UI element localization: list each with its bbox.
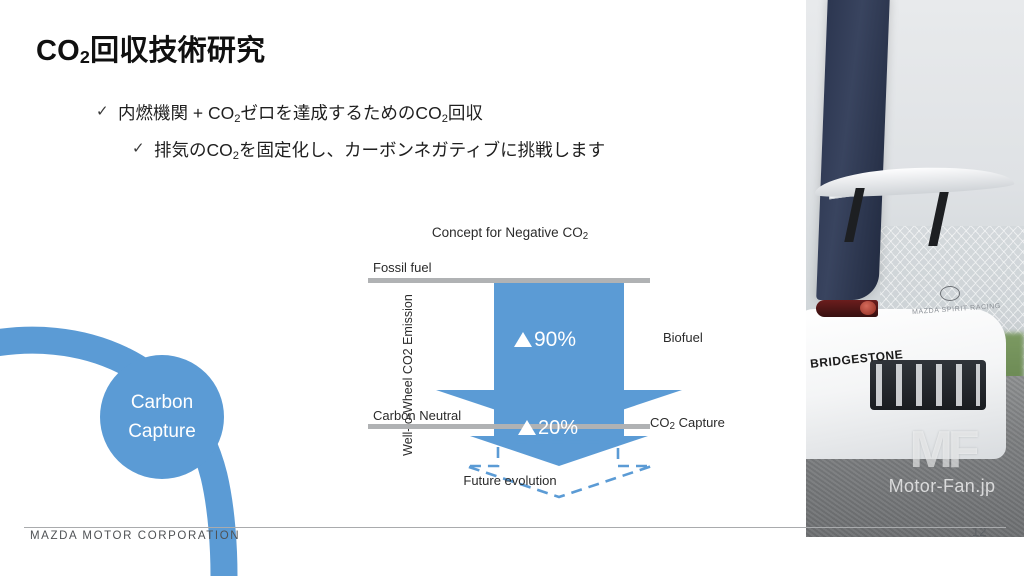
slide-canvas: CO2回収技術研究 ✓ 内燃機関 + CO2ゼロを達成するためのCO2回収 ✓ …: [0, 0, 1024, 576]
label-co2-capture: CO2 Capture: [650, 415, 725, 430]
label-co2-capture-sub: 2: [670, 421, 676, 432]
checkmark-icon: ✓: [96, 103, 118, 121]
bullet2-pre: 排気のCO: [154, 140, 233, 160]
mazda-spirit-racing-banner: MAZDA SPIRIT RACING: [816, 0, 890, 300]
label-biofuel: Biofuel: [663, 330, 703, 345]
reduction-label-90: 90%: [514, 328, 576, 352]
footer-divider: [24, 527, 1006, 528]
bullet2-mid: を固定化し、カーボンネガティブに挑戦します: [239, 140, 605, 160]
label-carbon-neutral: Carbon Neutral: [373, 408, 461, 423]
page-title: CO2回収技術研究: [36, 27, 265, 69]
baseline-fossil-fuel: [368, 278, 650, 283]
concept-diagram: Concept for Negative CO2 Well-to-Wheel C…: [330, 218, 690, 503]
bullet1-post: 回収: [448, 103, 483, 123]
photo-rear-diffuser: [870, 360, 986, 410]
page-title-subscript: 2: [80, 47, 90, 67]
bullet1-sub2: 2: [442, 113, 448, 125]
carbon-capture-badge[interactable]: Carbon Capture: [100, 355, 224, 479]
footer-company-name: MAZDA MOTOR CORPORATION: [30, 530, 240, 542]
triangle-down-icon: [514, 332, 532, 347]
photo-taillight: [816, 300, 878, 317]
baseline-carbon-neutral: [368, 424, 650, 429]
bullet-item-1: ✓ 内燃機関 + CO2ゼロを達成するためのCO2回収: [96, 103, 483, 125]
label-co2-capture-rest: Capture: [675, 415, 725, 430]
carbon-capture-line-2: Capture: [128, 417, 196, 446]
bullet1-pre: 内燃機関 + CO: [118, 103, 234, 123]
bullet-item-1-text: 内燃機関 + CO2ゼロを達成するためのCO2回収: [118, 103, 483, 125]
reduction-label-20: 20%: [518, 417, 578, 440]
page-title-main: CO: [36, 35, 80, 67]
racing-car-photo: MAZDA SPIRIT RACING MAZDA SPIRIT RACING …: [806, 0, 1024, 537]
carbon-capture-line-1: Carbon: [131, 388, 193, 417]
bullet1-mid: ゼロを達成するためのCO: [240, 103, 441, 123]
label-future-evolution: Future evolution: [330, 473, 690, 488]
checkmark-icon: ✓: [132, 140, 154, 158]
bullet2-sub: 2: [233, 150, 239, 162]
triangle-down-icon: [518, 420, 536, 435]
label-co2-capture-main: CO: [650, 415, 670, 430]
label-fossil-fuel: Fossil fuel: [373, 260, 432, 275]
page-title-rest: 回収技術研究: [90, 35, 265, 67]
bullet-item-2-text: 排気のCO2を固定化し、カーボンネガティブに挑戦します: [154, 140, 605, 162]
bullet1-sub: 2: [234, 113, 240, 125]
bullet-item-2: ✓ 排気のCO2を固定化し、カーボンネガティブに挑戦します: [132, 140, 605, 162]
mazda-logo-icon: [940, 286, 960, 301]
reduction-value-90: 90%: [534, 328, 576, 352]
reduction-value-20: 20%: [538, 417, 578, 440]
